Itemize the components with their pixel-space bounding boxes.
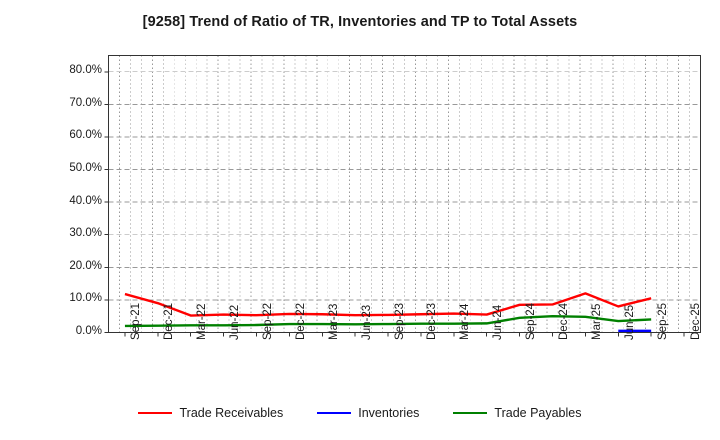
- x-axis-tick-label: Mar-24: [459, 303, 471, 339]
- x-axis-tick-label: Mar-22: [196, 303, 208, 339]
- x-axis-tick-label: Jun-24: [492, 304, 504, 339]
- x-axis-tick-label: Sep-21: [130, 302, 142, 339]
- x-axis-tick-label: Sep-23: [394, 302, 406, 339]
- x-axis-tick-label: Mar-25: [591, 303, 603, 339]
- x-axis-tick-label: Sep-22: [262, 302, 274, 339]
- x-axis-tick-label: Sep-24: [525, 302, 537, 339]
- x-axis-tick-label: Jun-25: [624, 304, 636, 339]
- y-axis-tick-label: 80.0%: [40, 64, 102, 76]
- y-axis-tick-label: 30.0%: [40, 227, 102, 239]
- x-axis-tick-label: Dec-22: [295, 302, 307, 339]
- x-axis-tick-label: Mar-23: [328, 303, 340, 339]
- legend-item[interactable]: Trade Payables: [453, 406, 581, 420]
- y-axis-tick-label: 70.0%: [40, 97, 102, 109]
- y-axis-tick-label: 60.0%: [40, 129, 102, 141]
- x-axis-tick-label: Dec-24: [558, 302, 570, 339]
- plot-frame: [109, 56, 701, 333]
- y-axis-tick-label: 10.0%: [40, 292, 102, 304]
- legend-item[interactable]: Trade Receivables: [138, 406, 283, 420]
- x-axis-tick-label: Dec-21: [163, 302, 175, 339]
- x-axis-tick-label: Dec-23: [426, 302, 438, 339]
- legend-label: Trade Payables: [494, 406, 581, 420]
- y-axis-tick-label: 0.0%: [40, 325, 102, 337]
- legend-label: Inventories: [358, 406, 419, 420]
- x-axis-tick-label: Sep-25: [657, 302, 669, 339]
- plot-area: [0, 0, 720, 440]
- legend-line-swatch: [138, 412, 172, 414]
- x-axis-tick-label: Jun-22: [229, 304, 241, 339]
- x-axis-tick-label: Jun-23: [361, 304, 373, 339]
- chart-legend: Trade ReceivablesInventoriesTrade Payabl…: [0, 406, 720, 420]
- y-axis-tick-label: 40.0%: [40, 195, 102, 207]
- legend-label: Trade Receivables: [179, 406, 283, 420]
- y-axis-tick-label: 20.0%: [40, 260, 102, 272]
- gridlines: [109, 56, 701, 333]
- chart-container: [9258] Trend of Ratio of TR, Inventories…: [0, 0, 720, 440]
- legend-item[interactable]: Inventories: [317, 406, 419, 420]
- legend-line-swatch: [453, 412, 487, 414]
- y-axis-tick-label: 50.0%: [40, 162, 102, 174]
- x-axis-tick-label: Dec-25: [690, 302, 702, 339]
- legend-line-swatch: [317, 412, 351, 414]
